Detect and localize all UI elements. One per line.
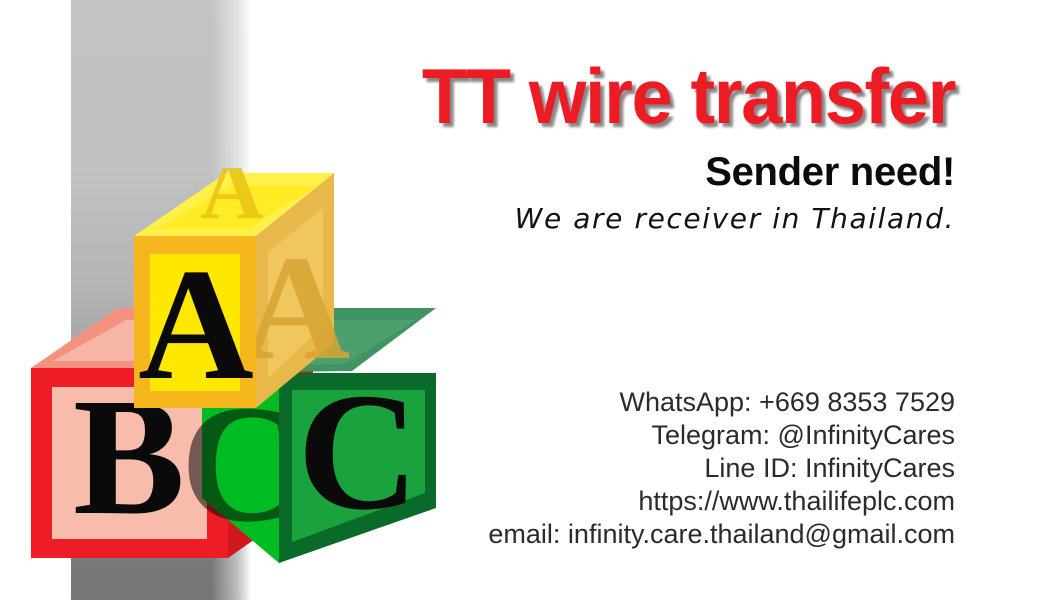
contact-line-whatsapp: WhatsApp: +669 8353 7529 (265, 386, 955, 419)
page-title: TT wire transfer (300, 57, 956, 135)
text-column: TT wire transfer Sender need! We are rec… (265, 0, 955, 600)
contact-line-email[interactable]: email: infinity.care.thailand@gmail.com (265, 518, 955, 551)
svg-text:A: A (138, 235, 254, 413)
contact-block: WhatsApp: +669 8353 7529 Telegram: @Infi… (265, 386, 955, 551)
page-subtitle: Sender need! (265, 150, 955, 195)
contact-line-lineid: Line ID: InfinityCares (265, 452, 955, 485)
contact-line-telegram: Telegram: @InfinityCares (265, 419, 955, 452)
poster-canvas: B C C A (0, 0, 1063, 600)
page-tagline: We are receiver in Thailand. (265, 202, 955, 236)
contact-line-website[interactable]: https://www.thailifeplc.com (265, 485, 955, 518)
